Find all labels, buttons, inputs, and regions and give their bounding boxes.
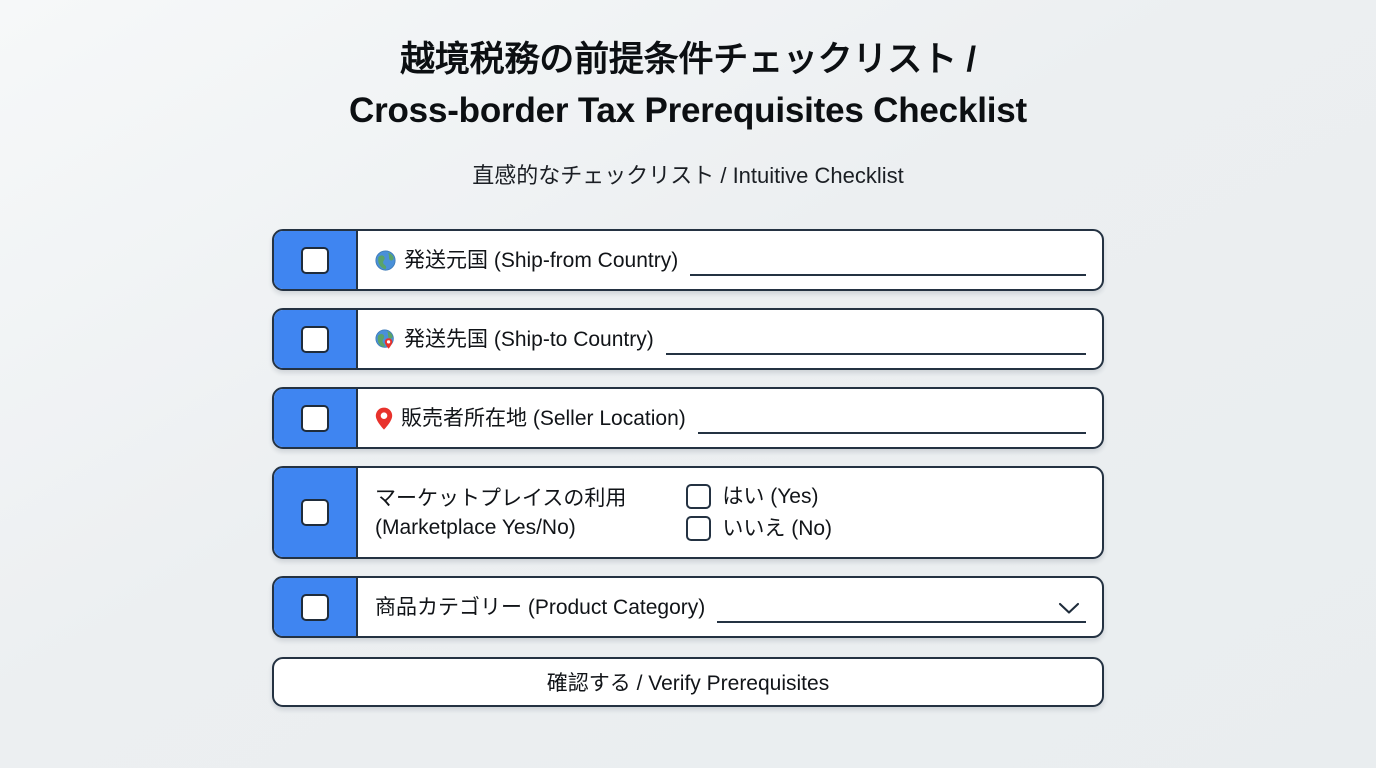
row-label-text-line-2: (Marketplace Yes/No) xyxy=(375,513,576,542)
row-checkbox-panel-ship-from-country[interactable] xyxy=(274,231,358,289)
map-pin-icon xyxy=(375,407,393,430)
row-label-product-category: 商品カテゴリー (Product Category) xyxy=(375,593,705,622)
globe-icon xyxy=(375,250,396,271)
row-checkbox-seller-location[interactable] xyxy=(301,405,329,432)
marketplace-yes-checkbox[interactable] xyxy=(686,484,711,509)
row-label-seller-location: 販売者所在地 (Seller Location) xyxy=(375,404,686,433)
row-body-seller-location: 販売者所在地 (Seller Location) xyxy=(358,389,1102,447)
globe-with-pin-icon xyxy=(375,329,396,350)
row-label-text-ship-from-country: 発送元国 (Ship-from Country) xyxy=(404,246,678,275)
row-body-marketplace-usage: マーケットプレイスの利用 (Marketplace Yes/No) はい (Ye… xyxy=(358,468,1102,557)
row-checkbox-panel-marketplace-usage[interactable] xyxy=(274,468,358,557)
row-label-text-line-1: マーケットプレイスの利用 xyxy=(375,484,626,513)
checklist-row-ship-to-country[interactable]: 発送先国 (Ship-to Country) xyxy=(272,308,1104,370)
checklist-row-seller-location[interactable]: 販売者所在地 (Seller Location) xyxy=(272,387,1104,449)
checklist-items: 発送元国 (Ship-from Country) xyxy=(272,229,1104,638)
row-dropdown-product-category[interactable] xyxy=(717,578,1086,636)
checklist-row-product-category[interactable]: 商品カテゴリー (Product Category) xyxy=(272,576,1104,638)
row-input-ship-from-country[interactable] xyxy=(690,231,1086,289)
marketplace-yesno-group: はい (Yes) いいえ (No) xyxy=(686,484,832,542)
row-input-seller-location[interactable] xyxy=(698,389,1086,447)
input-underline xyxy=(690,274,1086,276)
row-label-ship-from-country: 発送元国 (Ship-from Country) xyxy=(375,246,678,275)
marketplace-no-label: いいえ (No) xyxy=(722,516,832,542)
chevron-down-icon[interactable] xyxy=(1058,602,1080,615)
input-underline xyxy=(666,353,1086,355)
page-title-line-2: Cross-border Tax Prerequisites Checklist xyxy=(0,85,1376,136)
row-label-marketplace-usage: マーケットプレイスの利用 (Marketplace Yes/No) xyxy=(375,484,626,542)
row-checkbox-ship-to-country[interactable] xyxy=(301,326,329,353)
page-subtitle: 直感的なチェックリスト / Intuitive Checklist xyxy=(0,161,1376,191)
row-checkbox-product-category[interactable] xyxy=(301,594,329,621)
marketplace-no-checkbox[interactable] xyxy=(686,516,711,541)
row-checkbox-ship-from-country[interactable] xyxy=(301,247,329,274)
row-label-text-seller-location: 販売者所在地 (Seller Location) xyxy=(401,404,686,433)
row-checkbox-marketplace-usage[interactable] xyxy=(301,499,329,526)
verify-prerequisites-button[interactable]: 確認する / Verify Prerequisites xyxy=(272,657,1104,707)
row-checkbox-panel-product-category[interactable] xyxy=(274,578,358,636)
row-body-product-category: 商品カテゴリー (Product Category) xyxy=(358,578,1102,636)
checklist-row-marketplace-usage[interactable]: マーケットプレイスの利用 (Marketplace Yes/No) はい (Ye… xyxy=(272,466,1104,559)
marketplace-option-no[interactable]: いいえ (No) xyxy=(686,516,832,542)
row-checkbox-panel-seller-location[interactable] xyxy=(274,389,358,447)
page-header: 越境税務の前提条件チェックリスト / Cross-border Tax Prer… xyxy=(0,34,1376,191)
row-checkbox-panel-ship-to-country[interactable] xyxy=(274,310,358,368)
checklist-row-ship-from-country[interactable]: 発送元国 (Ship-from Country) xyxy=(272,229,1104,291)
row-label-ship-to-country: 発送先国 (Ship-to Country) xyxy=(375,325,654,354)
row-label-text-product-category: 商品カテゴリー (Product Category) xyxy=(375,593,705,622)
input-underline xyxy=(717,621,1086,623)
row-body-ship-from-country: 発送元国 (Ship-from Country) xyxy=(358,231,1102,289)
checklist-page: 越境税務の前提条件チェックリスト / Cross-border Tax Prer… xyxy=(0,0,1376,768)
page-title-line-1: 越境税務の前提条件チェックリスト / xyxy=(0,34,1376,85)
marketplace-option-yes[interactable]: はい (Yes) xyxy=(686,484,832,510)
input-underline xyxy=(698,432,1086,434)
marketplace-yes-label: はい (Yes) xyxy=(722,484,818,510)
row-input-ship-to-country[interactable] xyxy=(666,310,1086,368)
row-body-ship-to-country: 発送先国 (Ship-to Country) xyxy=(358,310,1102,368)
row-label-text-ship-to-country: 発送先国 (Ship-to Country) xyxy=(404,325,654,354)
